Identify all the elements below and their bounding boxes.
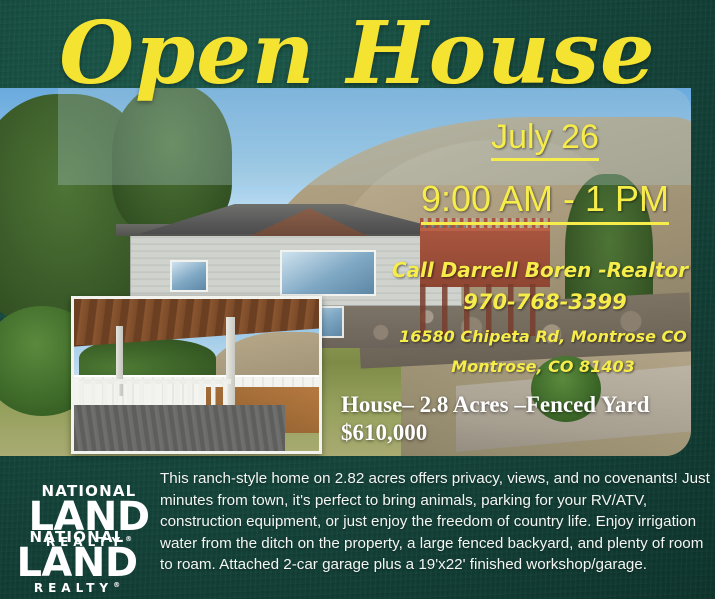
logo-realty-text: REALTY bbox=[34, 581, 113, 595]
logo-line-land: LAND bbox=[12, 543, 142, 583]
open-house-time-text: 9:00 AM - 1 PM bbox=[421, 178, 669, 225]
property-description: This ranch-style home on 2.82 acres offe… bbox=[160, 468, 710, 576]
photo-window-left bbox=[170, 260, 208, 292]
open-house-flyer: Open House July 26 9:00 AM - 1 PM Call D… bbox=[0, 0, 715, 599]
agent-name: Call Darrell Boren -Realtor bbox=[370, 258, 710, 282]
open-house-date-text: July 26 bbox=[491, 118, 599, 161]
property-summary: House– 2.8 Acres –Fenced Yard $610,000 bbox=[341, 391, 713, 447]
inset-deck-photo bbox=[71, 296, 322, 454]
registered-trademark-icon: ® bbox=[113, 581, 120, 589]
page-title: Open House bbox=[0, 6, 715, 102]
property-address-line2: Montrose, CO 81403 bbox=[378, 357, 708, 376]
open-house-time: 9:00 AM - 1 PM bbox=[385, 178, 705, 220]
agent-phone: 970-768-3399 bbox=[380, 290, 710, 314]
open-house-date: July 26 bbox=[395, 118, 695, 157]
photo-window-center bbox=[280, 250, 376, 296]
inset-deck-floor bbox=[74, 405, 285, 451]
property-address-line1: 16580 Chipeta Rd, Montrose CO bbox=[378, 327, 708, 346]
property-price: $610,000 bbox=[341, 419, 713, 447]
national-land-realty-logo-secondary: NATIONAL LAND REALTY® bbox=[12, 530, 142, 594]
property-features: House– 2.8 Acres –Fenced Yard bbox=[341, 391, 713, 419]
